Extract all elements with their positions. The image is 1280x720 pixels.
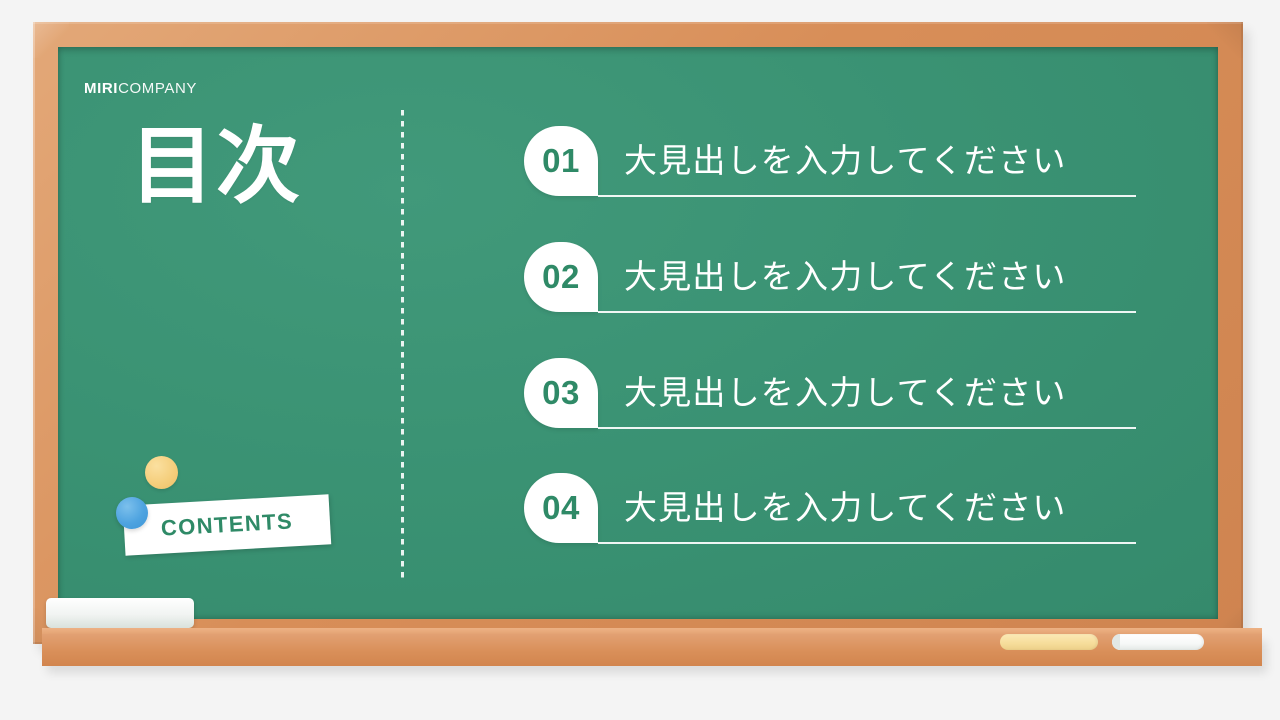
- logo-light-text: COMPANY: [118, 80, 197, 97]
- toc-row-02[interactable]: 02 大見出しを入力してください: [524, 242, 1138, 328]
- page-title: 目次: [130, 124, 302, 208]
- yellow-chalk-icon: [1000, 634, 1098, 650]
- toc-number-03: 03: [542, 374, 580, 412]
- yellow-dot-icon: [145, 456, 178, 489]
- toc-number-badge-01: 01: [524, 126, 598, 196]
- toc-row-04[interactable]: 04 大見出しを入力してください: [524, 473, 1138, 559]
- frame-seam-top: [33, 22, 1243, 24]
- toc-number-01: 01: [542, 142, 580, 180]
- blue-dot-icon: [116, 497, 148, 529]
- toc-underline-04: [598, 542, 1136, 544]
- toc-number-04: 04: [542, 489, 580, 527]
- company-logo: MIRICOMPANY: [84, 80, 197, 97]
- toc-underline-02: [598, 311, 1136, 313]
- white-chalk-icon: [1112, 634, 1204, 650]
- toc-number-badge-03: 03: [524, 358, 598, 428]
- toc-heading-03: 大見出しを入力してください: [624, 366, 1067, 414]
- toc-number-badge-04: 04: [524, 473, 598, 543]
- toc-number-02: 02: [542, 258, 580, 296]
- toc-underline-03: [598, 427, 1136, 429]
- frame-seam-left: [33, 22, 35, 644]
- frame-seam-right: [1241, 22, 1243, 644]
- toc-heading-02: 大見出しを入力してください: [624, 250, 1067, 298]
- toc-row-03[interactable]: 03 大見出しを入力してください: [524, 358, 1138, 444]
- toc-number-badge-02: 02: [524, 242, 598, 312]
- contents-label-text: CONTENTS: [160, 508, 293, 541]
- toc-row-01[interactable]: 01 大見出しを入力してください: [524, 126, 1138, 212]
- slide-canvas: MIRICOMPANY 目次 CONTENTS 01 大見出しを入力してください…: [0, 0, 1280, 720]
- logo-bold-text: MIRI: [84, 80, 118, 97]
- eraser-handle: [46, 598, 194, 628]
- toc-underline-01: [598, 195, 1136, 197]
- toc-heading-04: 大見出しを入力してください: [624, 481, 1067, 529]
- vertical-dashed-divider: [401, 110, 404, 580]
- toc-heading-01: 大見出しを入力してください: [624, 134, 1067, 182]
